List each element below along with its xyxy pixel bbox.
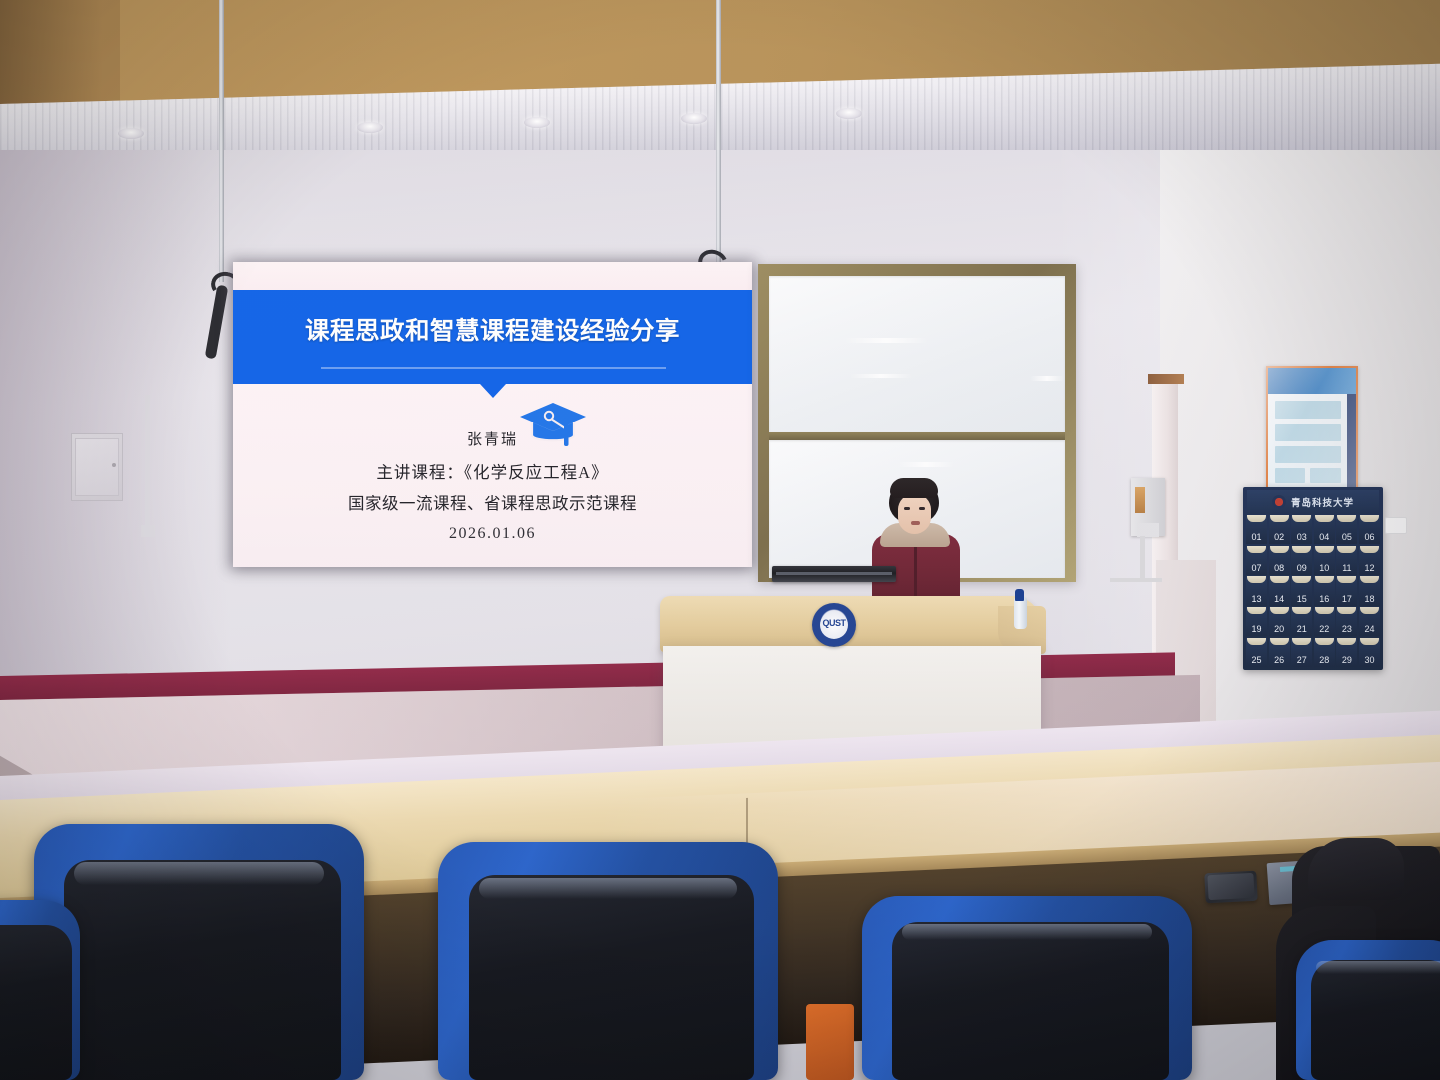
access-panel-knob[interactable] [112,463,116,467]
smartphone-screen[interactable] [1207,873,1254,900]
pocket-slot-number: 22 [1319,624,1329,636]
pocket-slot-number: 28 [1319,655,1329,667]
presenter-eye-right [919,507,925,510]
wall-conduit [145,395,150,527]
pocket-slot-number: 02 [1274,532,1284,544]
qust-logo-icon [1272,495,1286,509]
pocket-slot-number: 21 [1297,624,1307,636]
pocket-slot[interactable]: 27 [1291,638,1312,667]
qust-emblem-label: QUST [812,618,856,628]
pocket-slot[interactable]: 02 [1269,515,1290,544]
pocket-slot[interactable]: 28 [1314,638,1335,667]
slide-presenter-name: 张青瑞 [233,428,752,449]
pocket-slot[interactable]: 30 [1359,638,1380,667]
chair-highlight [1316,961,1440,974]
presenter-coat-zipper [914,540,917,600]
chair-2[interactable] [438,842,778,1080]
pocket-slot[interactable]: 07 [1246,546,1267,575]
pocket-slot-number: 14 [1274,594,1284,606]
pocket-slot-number: 30 [1364,655,1374,667]
whiteboard-glare [1030,376,1064,381]
chair-backrest-pad [0,925,72,1080]
pocket-grid: 0102030405060708091011121314151617181920… [1246,515,1380,667]
glue-bottle[interactable] [1014,597,1027,629]
pocket-slot[interactable]: 18 [1359,576,1380,605]
slide-course-line: 主讲课程：《化学反应工程A》 [233,459,752,483]
chair-highlight [74,862,325,885]
pocket-slot[interactable]: 08 [1269,546,1290,575]
pocket-slot-number: 08 [1274,563,1284,575]
pocket-slot[interactable]: 14 [1269,576,1290,605]
pocket-slot[interactable]: 22 [1314,607,1335,636]
chair-backrest-pad [469,875,755,1080]
pocket-slot-number: 20 [1274,624,1284,636]
slide-date: 2026.01.06 [233,525,752,543]
orange-object [806,1004,854,1080]
pocket-slot-number: 23 [1342,624,1352,636]
pocket-slot-number: 24 [1364,624,1374,636]
pocket-slot[interactable]: 13 [1246,576,1267,605]
wall-conduit-junction [141,525,155,537]
corner-column-cap [1148,374,1184,384]
projection-screen: 课程思政和智慧课程建设经验分享 张青瑞 主讲课程：《化学反应工程A》 国家级一流… [233,262,752,567]
pocket-slot[interactable]: 04 [1314,515,1335,544]
pocket-slot[interactable]: 12 [1359,546,1380,575]
pocket-slot[interactable]: 23 [1336,607,1357,636]
pocket-slot[interactable]: 03 [1291,515,1312,544]
pocket-slot-number: 01 [1252,532,1262,544]
pocket-slot[interactable]: 06 [1359,515,1380,544]
pocket-slot-number: 10 [1319,563,1329,575]
presenter-eye-left [904,507,910,510]
pocket-slot-number: 29 [1342,655,1352,667]
pocket-slot[interactable]: 19 [1246,607,1267,636]
lecture-hall-photo: 课程思政和智慧课程建设经验分享 张青瑞 主讲课程：《化学反应工程A》 国家级一流… [0,0,1440,1080]
pocket-slot-number: 15 [1297,594,1307,606]
chair-backrest-pad [64,860,341,1080]
downlight-icon [118,128,144,139]
slide-notch [480,384,506,398]
whiteboard-glare [844,338,928,343]
screen-top-strip [233,262,752,290]
downlight-icon [357,122,383,133]
control-box-lower [1137,523,1159,537]
whiteboard-divider-rail [769,432,1065,440]
pocket-slot-number: 09 [1297,563,1307,575]
pocket-slot-number: 16 [1319,594,1329,606]
whiteboard-glare [850,374,912,378]
pocket-slot[interactable]: 15 [1291,576,1312,605]
downlight-icon [524,117,550,128]
pocket-slot-number: 25 [1252,655,1262,667]
control-box-conduit-horizontal [1110,578,1162,582]
pocket-slot-number: 03 [1297,532,1307,544]
pocket-slot[interactable]: 01 [1246,515,1267,544]
chair-backrest-pad [1311,960,1440,1080]
hanger-pole-left [219,0,224,282]
pocket-slot[interactable]: 24 [1359,607,1380,636]
pocket-slot[interactable]: 11 [1336,546,1357,575]
pocket-slot-number: 04 [1319,532,1329,544]
pocket-slot-number: 05 [1342,532,1352,544]
downlight-icon [681,113,707,124]
pocket-slot[interactable]: 20 [1269,607,1290,636]
pocket-slot[interactable]: 05 [1336,515,1357,544]
pocket-slot-number: 19 [1252,624,1262,636]
access-panel-inner [75,438,119,496]
pocket-slot-number: 26 [1274,655,1284,667]
chair-3[interactable] [862,896,1192,1080]
chair-4[interactable] [1296,940,1440,1080]
presenter-mouth [911,521,920,525]
pocket-slot[interactable]: 09 [1291,546,1312,575]
chair-highlight [902,924,1153,941]
pocket-slot[interactable]: 10 [1314,546,1335,575]
pocket-organizer-header: 青岛科技大学 [1247,490,1379,514]
pocket-slot-number: 27 [1297,655,1307,667]
whiteboard-glare [898,462,954,467]
pocket-slot[interactable]: 16 [1314,576,1335,605]
slide-title-underline [321,367,666,369]
pocket-slot[interactable]: 21 [1291,607,1312,636]
pocket-slot[interactable]: 29 [1336,638,1357,667]
glue-bottle-cap [1015,589,1024,601]
attendee-hood [1308,838,1404,900]
control-box-indicator [1135,487,1145,513]
light-switch[interactable] [1385,517,1407,534]
pocket-slot-number: 12 [1364,563,1374,575]
pocket-slot[interactable]: 25 [1246,638,1267,667]
chair-highlight [479,878,737,899]
slide-title: 课程思政和智慧课程建设经验分享 [233,312,752,347]
control-box-conduit [1140,536,1145,582]
pocket-slot[interactable]: 17 [1336,576,1357,605]
pocket-slot-number: 07 [1252,563,1262,575]
pocket-slot-number: 18 [1364,594,1374,606]
chair-backrest-pad [892,922,1169,1080]
podium-monitor-screen-edge [776,572,892,575]
hanger-pole-right [716,0,721,262]
chair-1[interactable] [34,824,364,1080]
pocket-slot-number: 17 [1342,594,1352,606]
whiteboard-panel-top [769,276,1065,432]
slide-honors-line: 国家级一流课程、省课程思政示范课程 [233,490,752,514]
pocket-organizer-title: 青岛科技大学 [1291,495,1354,509]
pocket-slot-number: 13 [1252,594,1262,606]
pocket-slot[interactable]: 26 [1269,638,1290,667]
chair-5[interactable] [0,900,80,1080]
poster-plastic-sleeve [1266,366,1358,490]
presenter-face [898,494,931,534]
pocket-slot-number: 06 [1364,532,1374,544]
presenter-fringe [890,478,938,498]
downlight-icon [836,108,862,119]
pocket-slot-number: 11 [1342,563,1351,575]
